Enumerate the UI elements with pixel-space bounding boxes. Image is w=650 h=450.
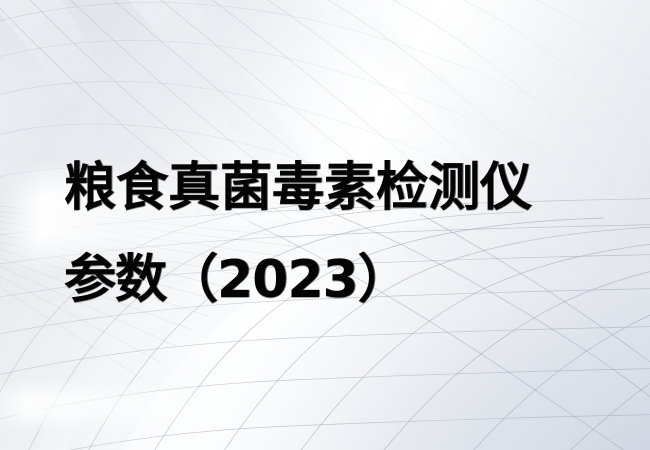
title-line-1: 粮食真菌毒素检测仪 (64, 142, 624, 234)
page-title: 粮食真菌毒素检测仪 参数（2023） (64, 142, 624, 326)
title-banner: 粮食真菌毒素检测仪 参数（2023） (0, 0, 650, 450)
title-line-2: 参数（2023） (64, 234, 624, 326)
